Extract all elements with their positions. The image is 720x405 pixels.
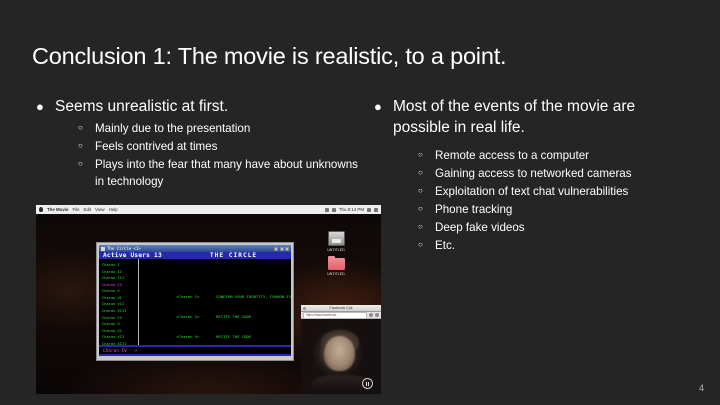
apple-icon (39, 207, 43, 212)
control-center-icon (374, 208, 378, 212)
bullet-heading-left: ● Seems unrealistic at first. (36, 97, 366, 118)
mac-menubar: The Movie File Edit View Help Thu 8:14 P… (36, 205, 381, 214)
maximize-button (280, 247, 284, 251)
active-user-list: Charon I Charon II Charon III Charon IV … (99, 259, 139, 345)
circle-bullet-icon: ○ (418, 219, 435, 235)
pause-button (362, 378, 373, 389)
terminal-body: Active Users 13 THE CIRCLE Charon I Char… (99, 252, 291, 356)
list-item: ○ Deep fake videos (418, 219, 696, 236)
sub-bullet-list-left: ○ Mainly due to the presentation ○ Feels… (36, 120, 366, 190)
wifi-icon (332, 208, 336, 212)
close-button (285, 247, 289, 251)
page-title: Conclusion 1: The movie is realistic, to… (32, 43, 692, 70)
search-icon (367, 208, 371, 212)
embedded-screenshot-image: The Movie File Edit View Help Thu 8:14 P… (36, 205, 381, 394)
drive-icon (328, 231, 345, 246)
chat-text: CONFIRM YOUR IDENTITY, CHARON IV (216, 294, 291, 299)
menubar-item-view: View (95, 207, 104, 212)
circle-bullet-icon: ○ (418, 183, 435, 199)
circle-bullet-icon: ○ (418, 201, 435, 217)
chatroom-title: THE CIRCLE (210, 252, 257, 259)
circle-bullet-icon: ○ (418, 147, 435, 163)
menubar-item-help: Help (109, 207, 118, 212)
circle-bullet-icon: ○ (78, 138, 95, 154)
list-item: ○ Mainly due to the presentation (78, 120, 366, 137)
list-item: Charon XII (102, 334, 138, 341)
list-item-active-user: Charon IV (102, 282, 138, 289)
list-item: Charon XI (102, 328, 138, 335)
chat-nick: <Charon I> (176, 294, 216, 301)
minimize-button (274, 247, 278, 251)
terminal-header-bar: Active Users 13 THE CIRCLE (99, 252, 291, 259)
bullet-heading-right: ● Most of the events of the movie are po… (374, 97, 696, 138)
chat-text: RECITE THE CODE (216, 334, 251, 339)
circle-bullet-icon: ○ (78, 120, 95, 136)
bullet-dot-icon: ● (374, 97, 393, 117)
menubar-item-file: File (72, 207, 79, 212)
sub-bullet-list-right: ○ Remote access to a computer ○ Gaining … (374, 147, 696, 254)
close-icon (303, 307, 306, 310)
facebook-call-title: Facebook Call (330, 306, 353, 310)
list-item: Charon V (102, 288, 138, 295)
desktop-icon-folder: UNTITLED (319, 258, 353, 276)
chat-message: <Charon V>RECITE THE CODE (143, 327, 291, 345)
menubar-clock: Thu 8:14 PM (339, 207, 364, 212)
chat-text: RECITE THE CODE (216, 314, 251, 319)
terminal-window: The Circle <1> Active Users 13 THE CIRCL… (96, 242, 294, 361)
list-item: Charon VII (102, 301, 138, 308)
terminal-titlebar: The Circle <1> (99, 245, 291, 252)
url-text: https://www.facebook... (303, 312, 367, 319)
bullet-heading-right-label: Most of the events of the movie are poss… (393, 97, 696, 138)
list-item: ○ Gaining access to networked cameras (418, 165, 696, 182)
chat-nick: <Charon I> (176, 314, 216, 321)
list-item: ○ Exploitation of text chat vulnerabilit… (418, 183, 696, 200)
desktop-icon-drive-label: UNTITLED (319, 248, 353, 252)
terminal-window-title: The Circle <1> (107, 246, 141, 251)
desktop-icon-drive: UNTITLED (319, 231, 353, 252)
search-icon (375, 313, 379, 317)
list-item: ○ Etc. (418, 237, 696, 254)
menubar-item-edit: Edit (84, 207, 92, 212)
video-call-feed (301, 319, 381, 394)
list-item: Charon II (102, 269, 138, 276)
battery-icon (325, 208, 329, 212)
list-item: Charon VIII (102, 308, 138, 315)
circle-bullet-icon: ○ (78, 156, 95, 172)
presentation-slide: Conclusion 1: The movie is realistic, to… (0, 0, 720, 405)
desktop-icon-folder-label: UNTITLED (319, 272, 353, 276)
facebook-call-window: Facebook Call https://www.facebook... (301, 305, 381, 394)
menubar-app-name: The Movie (47, 207, 68, 212)
active-users-label: Active Users 13 (103, 252, 162, 259)
list-item: Charon VI (102, 295, 138, 302)
list-item: ○ Remote access to a computer (418, 147, 696, 164)
list-item: Charon I (102, 262, 138, 269)
chat-message: <Charon I>RECITE THE CODE (143, 307, 291, 327)
terminal-main: Charon I Charon II Charon III Charon IV … (99, 259, 291, 345)
list-item: ○ Phone tracking (418, 201, 696, 218)
bullet-column-left: ● Seems unrealistic at first. ○ Mainly d… (36, 97, 366, 191)
list-item: ○ Plays into the fear that many have abo… (78, 156, 366, 190)
list-item: Charon X (102, 321, 138, 328)
chat-message-log: <Charon I>CONFIRM YOUR IDENTITY, CHARON … (139, 259, 291, 345)
circle-bullet-icon: ○ (418, 165, 435, 181)
list-item: Charon IX (102, 315, 138, 322)
chat-nick: <Charon V> (176, 334, 216, 341)
window-controls (274, 247, 289, 251)
bookmark-icon (369, 313, 373, 317)
terminal-statusbar (99, 354, 291, 356)
browser-url-bar: https://www.facebook... (301, 312, 381, 319)
terminal-input-prompt: Charon IV --> (99, 347, 291, 354)
video-subject-face (324, 336, 354, 371)
folder-icon (328, 258, 345, 270)
list-item: ○ Feels contrived at times (78, 138, 366, 155)
circle-bullet-icon: ○ (418, 237, 435, 253)
bullet-column-right: ● Most of the events of the movie are po… (374, 97, 696, 255)
slide-page-number: 4 (699, 383, 704, 393)
chat-message: <Charon I>CONFIRM YOUR IDENTITY, CHARON … (143, 287, 291, 307)
bullet-dot-icon: ● (36, 97, 55, 117)
bullet-heading-left-label: Seems unrealistic at first. (55, 97, 366, 118)
list-item: Charon III (102, 275, 138, 282)
facebook-call-titlebar: Facebook Call (301, 305, 381, 312)
terminal-app-icon (101, 247, 105, 251)
